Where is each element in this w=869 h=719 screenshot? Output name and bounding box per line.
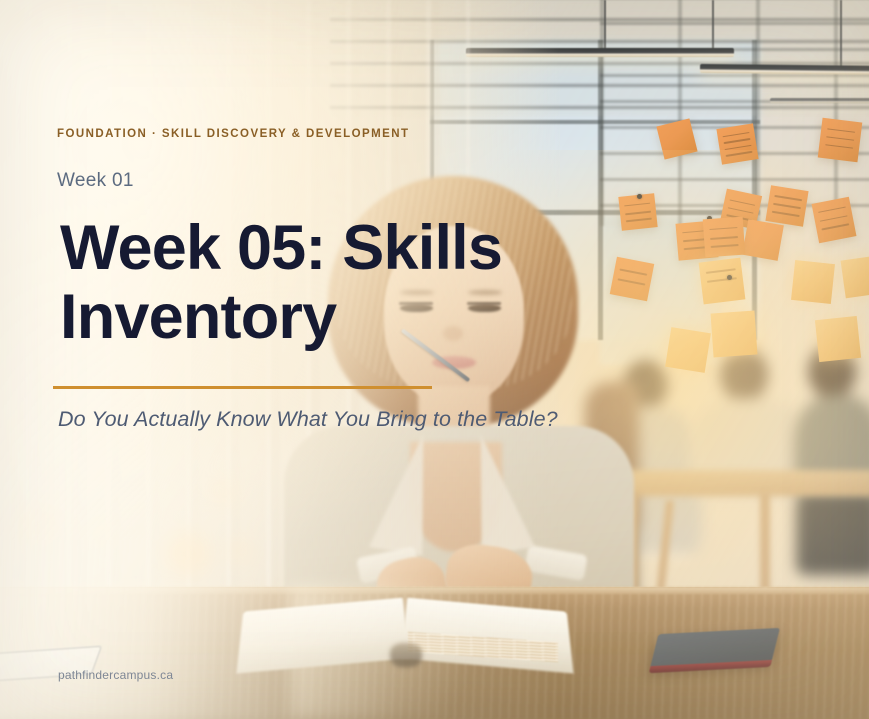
page-title: Week 05: Skills Inventory — [60, 214, 540, 353]
slide-content: FOUNDATION · SKILL DISCOVERY & DEVELOPME… — [0, 0, 869, 719]
week-label: Week 01 — [57, 170, 134, 192]
presentation-slide: FOUNDATION · SKILL DISCOVERY & DEVELOPME… — [0, 0, 869, 719]
subtitle: Do You Actually Know What You Bring to t… — [58, 407, 558, 432]
title-divider-rule — [53, 386, 432, 389]
footer-url: pathfindercampus.ca — [58, 668, 173, 682]
page-title-line-1: Week 05: Skills — [60, 213, 502, 283]
page-title-line-2: Inventory — [60, 282, 336, 352]
eyebrow-kicker: FOUNDATION · SKILL DISCOVERY & DEVELOPME… — [57, 128, 409, 140]
